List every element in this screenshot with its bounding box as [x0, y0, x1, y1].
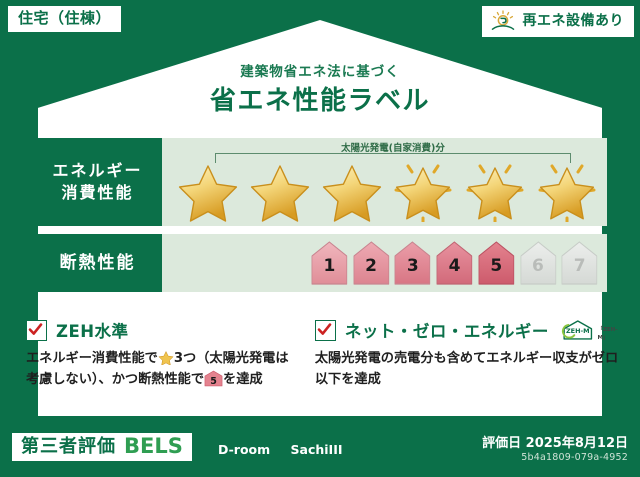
insulation-performance-row: 断熱性能 1 — [33, 234, 607, 292]
inline-house-level-num: 5 — [204, 374, 223, 389]
zeh-body-part1: エネルギー消費性能で — [26, 351, 158, 366]
star-3 — [316, 160, 388, 222]
sun-energy-icon — [490, 10, 516, 32]
criterion-zeh-body: エネルギー消費性能で3つ（太陽光発電は考慮しない）、かつ断熱性能で5を達成 — [26, 348, 291, 391]
building-name-secondary: SachiIII — [291, 442, 343, 457]
insulation-level-scale: 1 2 3 4 5 — [310, 238, 599, 288]
star-6-solar — [531, 160, 603, 222]
insulation-level-2: 2 — [352, 239, 391, 287]
criterion-net-zero-title: ネット・ゼロ・エネルギー — [345, 318, 549, 342]
energy-performance-row: エネルギー 消費性能 太陽光発電(自家消費)分 — [33, 138, 607, 226]
evaluation-date: 評価日 2025年8月12日 — [482, 432, 628, 451]
page-title: 省エネ性能ラベル — [0, 80, 640, 117]
performance-block: エネルギー 消費性能 太陽光発電(自家消費)分 — [33, 138, 607, 292]
insulation-performance-label: 断熱性能 — [33, 234, 162, 292]
svg-text:ZEH-M: ZEH-M — [566, 327, 590, 335]
bels-jp-label: 第三者評価 — [21, 438, 116, 456]
insulation-level-3: 3 — [393, 239, 432, 287]
insulation-level-4-num: 4 — [435, 256, 474, 276]
zeh-m-logo: ZEH-M 「ZEH-M」 — [559, 317, 624, 343]
energy-rating-area: 太陽光発電(自家消費)分 — [162, 138, 607, 226]
energy-label-line1: エネルギー — [52, 160, 142, 182]
checkbox-checked-icon — [315, 320, 336, 341]
solar-note-text: 太陽光発電(自家消費)分 — [215, 140, 571, 154]
insulation-level-3-num: 3 — [393, 256, 432, 276]
star-5-solar — [459, 160, 531, 222]
insulation-level-1-num: 1 — [310, 256, 349, 276]
insulation-level-6-num: 6 — [519, 256, 558, 276]
label-footer: 第三者評価 BELS D-room SachiIII 評価日 2025年8月12… — [0, 424, 640, 477]
inline-star-icon — [158, 350, 174, 366]
label-subtitle: 建築物省エネ法に基づく — [0, 60, 640, 80]
insulation-level-5-num: 5 — [477, 256, 516, 276]
insulation-level-6: 6 — [519, 239, 558, 287]
insulation-level-1: 1 — [310, 239, 349, 287]
criterion-net-zero-header: ネット・ゼロ・エネルギー ZEH-M 「ZEH-M」 — [315, 318, 624, 342]
star-1 — [172, 160, 244, 222]
insulation-level-5: 5 — [477, 239, 516, 287]
criteria-section: ZEH水準 エネルギー消費性能で3つ（太陽光発電は考慮しない）、かつ断熱性能で5… — [0, 318, 640, 391]
criterion-zeh: ZEH水準 エネルギー消費性能で3つ（太陽光発電は考慮しない）、かつ断熱性能で5… — [0, 318, 307, 391]
star-4-solar — [387, 160, 459, 222]
renewable-badge-label: 再エネ設備あり — [523, 14, 625, 28]
bels-certification-badge: 第三者評価 BELS — [12, 433, 192, 461]
zeh-m-logo-caption: 「ZEH-M」 — [597, 325, 624, 343]
zeh-body-part3: を達成 — [223, 372, 263, 387]
energy-performance-label: 住宅（住棟） 再エネ設備あり 建築物省エネ法に基づく 省エネ性能ラベル — [0, 0, 640, 477]
insulation-rating-area: 1 2 3 4 5 — [162, 234, 607, 292]
criterion-net-zero: ネット・ゼロ・エネルギー ZEH-M 「ZEH-M」 太陽光発電の売電分も含めて… — [307, 318, 640, 391]
insulation-level-2-num: 2 — [352, 256, 391, 276]
inline-house-level-icon: 5 — [204, 370, 223, 387]
insulation-level-4: 4 — [435, 239, 474, 287]
insulation-level-7: 7 — [560, 239, 599, 287]
category-tag: 住宅（住棟） — [8, 6, 121, 32]
criterion-net-zero-body: 太陽光発電の売電分も含めてエネルギー収支がゼロ以下を達成 — [315, 348, 624, 391]
renewable-energy-badge: 再エネ設備あり — [482, 6, 635, 37]
checkbox-checked-icon — [26, 320, 47, 341]
criterion-zeh-title: ZEH水準 — [56, 318, 129, 342]
star-rating — [172, 160, 603, 222]
zeh-star-count: 3つ — [174, 351, 196, 366]
energy-performance-label: エネルギー 消費性能 — [33, 138, 162, 226]
building-name-primary: D-room — [218, 442, 270, 457]
insulation-level-7-num: 7 — [560, 256, 599, 276]
star-2 — [244, 160, 316, 222]
criterion-zeh-header: ZEH水準 — [26, 318, 291, 342]
energy-label-line2: 消費性能 — [61, 182, 133, 204]
building-name: D-room SachiIII — [218, 442, 343, 457]
evaluation-id: 5b4a1809-079a-4952 — [521, 452, 628, 463]
bels-en-label: BELS — [124, 436, 183, 457]
